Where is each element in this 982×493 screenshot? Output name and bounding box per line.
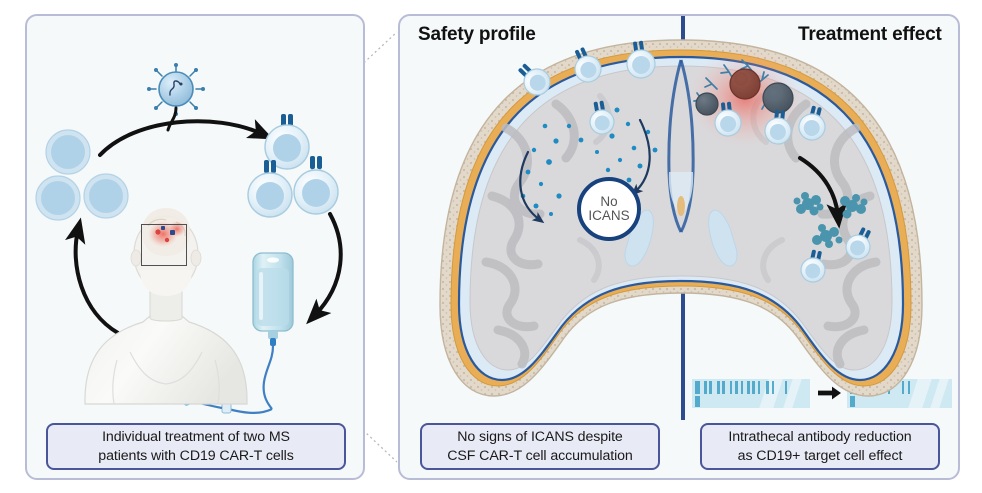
no-icans-badge: No ICANS xyxy=(577,177,641,241)
skull-layers xyxy=(440,40,922,396)
no-icans-line-1: No xyxy=(600,195,617,209)
brain-lesion-inset-box xyxy=(141,224,187,266)
graphical-abstract-figure: No ICANS Safety profile Tr xyxy=(0,0,982,493)
no-icans-line-2: ICANS xyxy=(588,209,629,223)
